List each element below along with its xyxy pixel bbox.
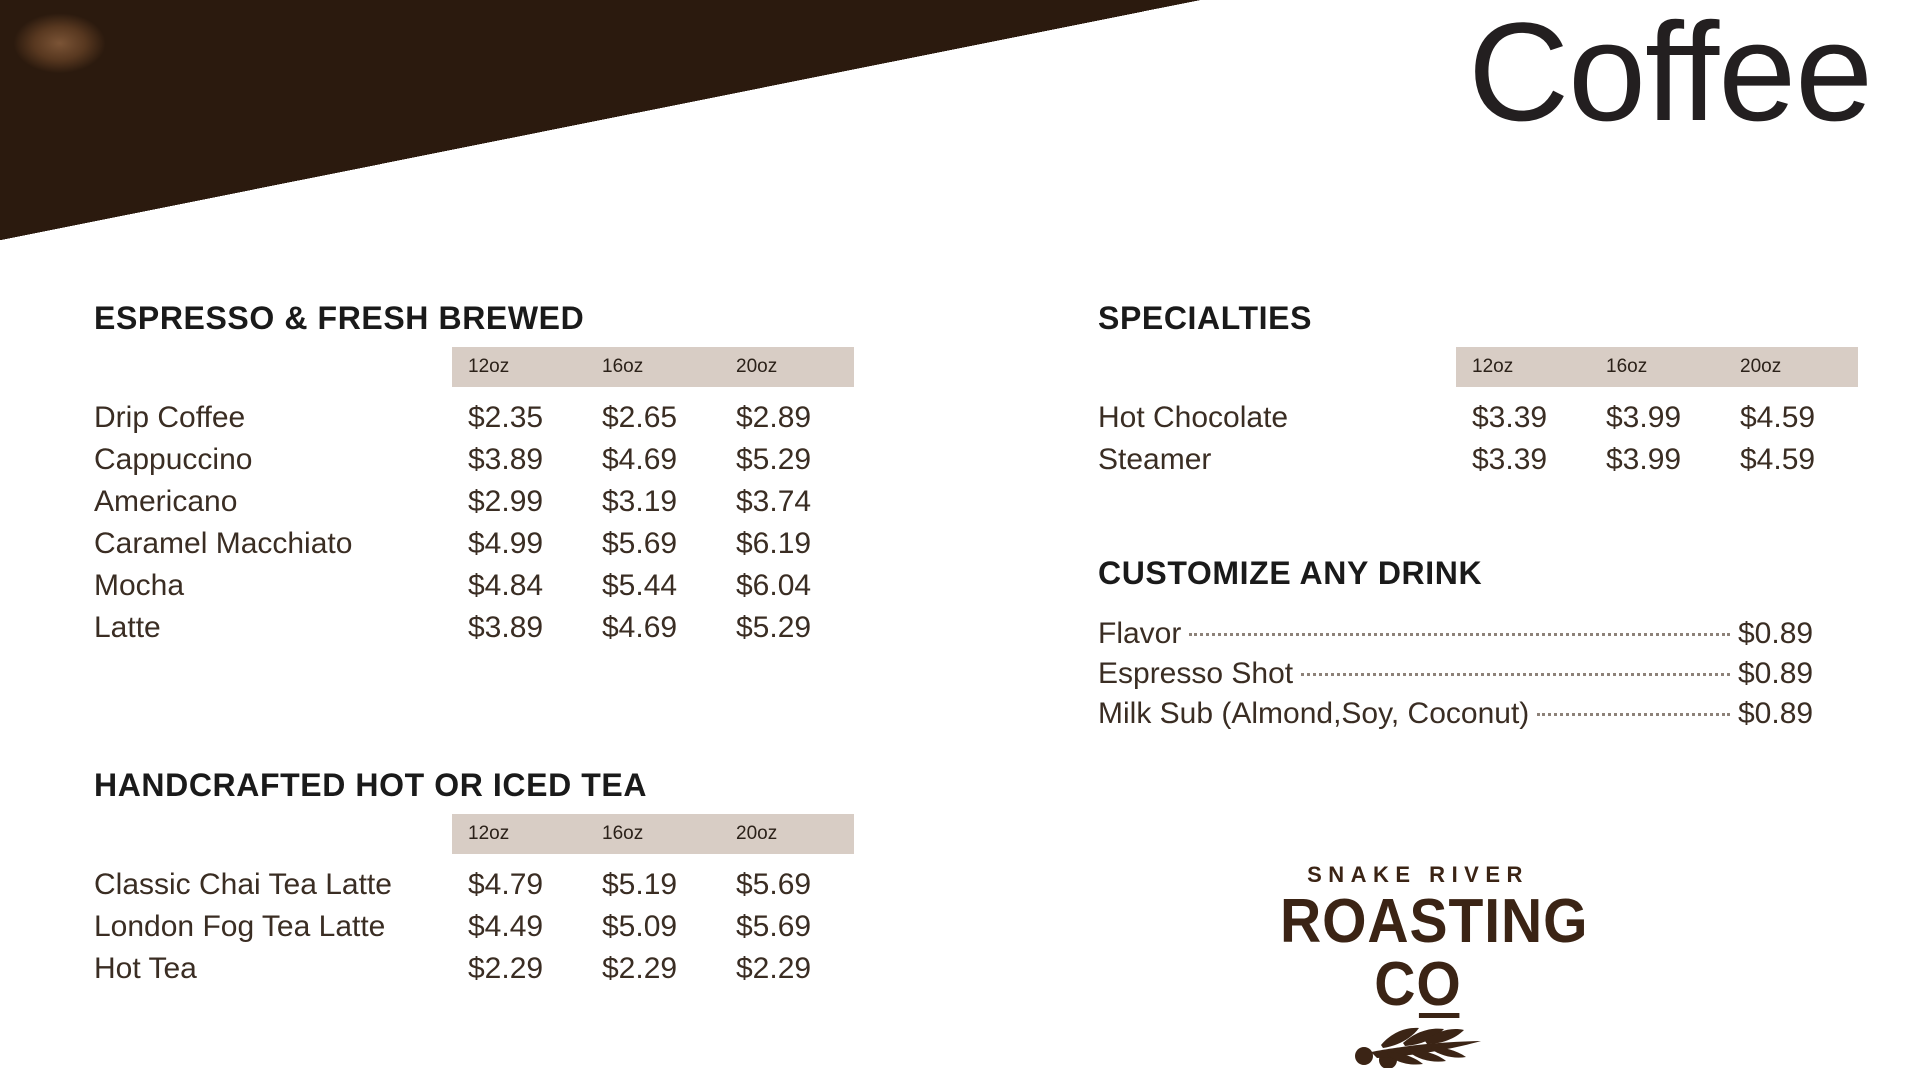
item-price-16oz: $5.44 bbox=[586, 565, 720, 607]
tea-table-head: 12oz 16oz 20oz bbox=[94, 814, 854, 854]
size-header-16oz: 16oz bbox=[586, 347, 720, 387]
table-row: Hot Tea $2.29 $2.29 $2.29 bbox=[94, 948, 854, 990]
size-header-blank bbox=[1098, 347, 1456, 387]
table-row: Steamer $3.39 $3.99 $4.59 bbox=[1098, 439, 1858, 481]
size-header-16oz: 16oz bbox=[586, 814, 720, 854]
item-price-16oz: $3.19 bbox=[586, 481, 720, 523]
section-title-specialties: SPECIALTIES bbox=[1098, 300, 1858, 337]
item-price-12oz: $3.89 bbox=[452, 439, 586, 481]
list-item: Espresso Shot $0.89 bbox=[1098, 654, 1858, 694]
section-title-customize: CUSTOMIZE ANY DRINK bbox=[1098, 555, 1858, 592]
customize-price: $0.89 bbox=[1738, 657, 1858, 691]
table-row: Caramel Macchiato $4.99 $5.69 $6.19 bbox=[94, 523, 854, 565]
item-name: London Fog Tea Latte bbox=[94, 906, 452, 948]
dot-leader bbox=[1301, 673, 1730, 676]
item-price-20oz: $5.29 bbox=[720, 439, 854, 481]
item-name: Steamer bbox=[1098, 439, 1456, 481]
table-row: Mocha $4.84 $5.44 $6.04 bbox=[94, 565, 854, 607]
item-price-12oz: $2.35 bbox=[452, 387, 586, 439]
left-column: ESPRESSO & FRESH BREWED 12oz 16oz 20oz D… bbox=[94, 300, 854, 990]
customize-list: Flavor $0.89 Espresso Shot $0.89 Milk Su… bbox=[1098, 614, 1858, 734]
size-header-12oz: 12oz bbox=[1456, 347, 1590, 387]
specialties-price-table: 12oz 16oz 20oz Hot Chocolate $3.39 $3.99… bbox=[1098, 347, 1858, 481]
item-name: Hot Tea bbox=[94, 948, 452, 990]
item-price-16oz: $2.65 bbox=[586, 387, 720, 439]
table-row: Americano $2.99 $3.19 $3.74 bbox=[94, 481, 854, 523]
logo-main-line: ROASTING CO bbox=[1280, 890, 1556, 1016]
size-header-row: 12oz 16oz 20oz bbox=[94, 347, 854, 387]
item-price-20oz: $5.69 bbox=[720, 906, 854, 948]
item-price-16oz: $2.29 bbox=[586, 948, 720, 990]
customize-label: Flavor bbox=[1098, 617, 1181, 651]
dot-leader bbox=[1189, 633, 1730, 636]
espresso-price-table: 12oz 16oz 20oz Drip Coffee $2.35 $2.65 $… bbox=[94, 347, 854, 649]
item-price-12oz: $4.84 bbox=[452, 565, 586, 607]
size-header-row: 12oz 16oz 20oz bbox=[94, 814, 854, 854]
item-price-20oz: $2.89 bbox=[720, 387, 854, 439]
item-price-20oz: $3.74 bbox=[720, 481, 854, 523]
size-header-12oz: 12oz bbox=[452, 347, 586, 387]
size-header-blank bbox=[94, 347, 452, 387]
section-title-espresso: ESPRESSO & FRESH BREWED bbox=[94, 300, 854, 337]
tea-price-table: 12oz 16oz 20oz Classic Chai Tea Latte $4… bbox=[94, 814, 854, 990]
item-price-16oz: $3.99 bbox=[1590, 439, 1724, 481]
item-price-20oz: $5.29 bbox=[720, 607, 854, 649]
list-item: Flavor $0.89 bbox=[1098, 614, 1858, 654]
espresso-table-body: Drip Coffee $2.35 $2.65 $2.89 Cappuccino… bbox=[94, 387, 854, 649]
size-header-20oz: 20oz bbox=[720, 347, 854, 387]
table-row: Latte $3.89 $4.69 $5.29 bbox=[94, 607, 854, 649]
item-name: Latte bbox=[94, 607, 452, 649]
table-row: London Fog Tea Latte $4.49 $5.09 $5.69 bbox=[94, 906, 854, 948]
logo-underlined-o: O bbox=[1416, 953, 1461, 1016]
item-name: Americano bbox=[94, 481, 452, 523]
item-name: Hot Chocolate bbox=[1098, 387, 1456, 439]
section-spacer bbox=[1098, 481, 1858, 555]
item-price-16oz: $5.09 bbox=[586, 906, 720, 948]
coffee-beans-photo bbox=[0, 0, 1490, 240]
size-header-20oz: 20oz bbox=[720, 814, 854, 854]
item-price-12oz: $4.49 bbox=[452, 906, 586, 948]
item-price-16oz: $3.99 bbox=[1590, 387, 1724, 439]
item-price-20oz: $2.29 bbox=[720, 948, 854, 990]
size-header-20oz: 20oz bbox=[1724, 347, 1858, 387]
item-price-12oz: $3.89 bbox=[452, 607, 586, 649]
table-row: Hot Chocolate $3.39 $3.99 $4.59 bbox=[1098, 387, 1858, 439]
brand-logo: SNAKE RIVER ROASTING CO bbox=[1268, 862, 1568, 1068]
item-price-12oz: $2.99 bbox=[452, 481, 586, 523]
item-name: Cappuccino bbox=[94, 439, 452, 481]
espresso-table-head: 12oz 16oz 20oz bbox=[94, 347, 854, 387]
size-header-row: 12oz 16oz 20oz bbox=[1098, 347, 1858, 387]
dot-leader bbox=[1537, 713, 1730, 716]
item-price-12oz: $4.79 bbox=[452, 854, 586, 906]
item-price-20oz: $4.59 bbox=[1724, 439, 1858, 481]
right-column: SPECIALTIES 12oz 16oz 20oz Hot Chocolate… bbox=[1098, 300, 1858, 734]
page-header: Coffee bbox=[0, 0, 1920, 250]
olive-branch-icon bbox=[1268, 1022, 1568, 1068]
item-name: Classic Chai Tea Latte bbox=[94, 854, 452, 906]
page-title: Coffee bbox=[1468, 2, 1872, 142]
customize-label: Milk Sub (Almond,Soy, Coconut) bbox=[1098, 697, 1529, 731]
table-row: Classic Chai Tea Latte $4.79 $5.19 $5.69 bbox=[94, 854, 854, 906]
customize-price: $0.89 bbox=[1738, 617, 1858, 651]
item-price-20oz: $6.04 bbox=[720, 565, 854, 607]
item-price-12oz: $4.99 bbox=[452, 523, 586, 565]
item-price-12oz: $3.39 bbox=[1456, 439, 1590, 481]
item-price-12oz: $3.39 bbox=[1456, 387, 1590, 439]
item-name: Mocha bbox=[94, 565, 452, 607]
specialties-table-body: Hot Chocolate $3.39 $3.99 $4.59 Steamer … bbox=[1098, 387, 1858, 481]
size-header-blank bbox=[94, 814, 452, 854]
item-price-16oz: $5.69 bbox=[586, 523, 720, 565]
item-price-20oz: $5.69 bbox=[720, 854, 854, 906]
item-price-16oz: $5.19 bbox=[586, 854, 720, 906]
logo-top-line: SNAKE RIVER bbox=[1268, 862, 1568, 888]
item-price-12oz: $2.29 bbox=[452, 948, 586, 990]
customize-price: $0.89 bbox=[1738, 697, 1858, 731]
list-item: Milk Sub (Almond,Soy, Coconut) $0.89 bbox=[1098, 694, 1858, 734]
specialties-table-head: 12oz 16oz 20oz bbox=[1098, 347, 1858, 387]
size-header-12oz: 12oz bbox=[452, 814, 586, 854]
item-name: Caramel Macchiato bbox=[94, 523, 452, 565]
item-price-20oz: $6.19 bbox=[720, 523, 854, 565]
item-price-16oz: $4.69 bbox=[586, 439, 720, 481]
customize-label: Espresso Shot bbox=[1098, 657, 1293, 691]
table-row: Drip Coffee $2.35 $2.65 $2.89 bbox=[94, 387, 854, 439]
tea-table-body: Classic Chai Tea Latte $4.79 $5.19 $5.69… bbox=[94, 854, 854, 990]
table-row: Cappuccino $3.89 $4.69 $5.29 bbox=[94, 439, 854, 481]
item-name: Drip Coffee bbox=[94, 387, 452, 439]
section-spacer bbox=[94, 649, 854, 767]
item-price-16oz: $4.69 bbox=[586, 607, 720, 649]
item-price-20oz: $4.59 bbox=[1724, 387, 1858, 439]
section-title-tea: HANDCRAFTED HOT OR ICED TEA bbox=[94, 767, 854, 804]
size-header-16oz: 16oz bbox=[1590, 347, 1724, 387]
